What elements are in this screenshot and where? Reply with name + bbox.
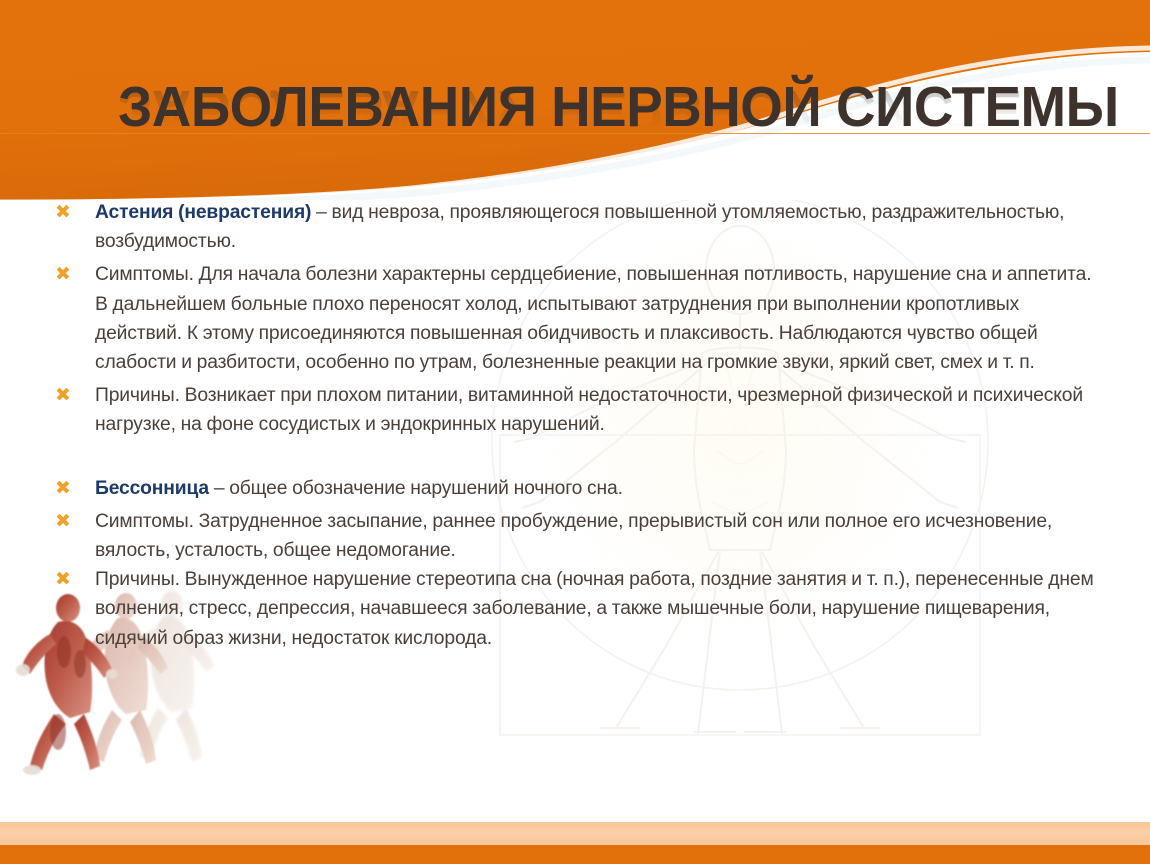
slide-header-banner <box>0 0 1150 200</box>
list-item: ✖ Причины. Вынужденное нарушение стереот… <box>0 565 1150 653</box>
list-item: ✖ Симптомы. Для начала болезни характерн… <box>0 260 1150 377</box>
list-item: ✖ Бессонница – общее обозначение нарушен… <box>0 474 1150 503</box>
list-item: ✖ Симптомы. Затрудненное засыпание, ранн… <box>0 507 1150 565</box>
title-divider-rule <box>0 133 1150 134</box>
list-item-text: Бессонница – общее обозначение нарушений… <box>95 474 1095 503</box>
presentation-slide: ЗАБОЛЕВАНИЯ НЕРВНОЙ СИСТЕМЫ ЗАБОЛЕВАНИЯ … <box>0 0 1150 864</box>
section-spacer <box>0 440 1150 474</box>
term-description: – общее обозначение нарушений ночного сн… <box>209 478 623 499</box>
cross-bullet-icon: ✖ <box>52 201 74 223</box>
list-item-text: Астения (неврастения) – вид невроза, про… <box>95 198 1095 256</box>
cross-bullet-icon: ✖ <box>52 568 74 590</box>
cross-bullet-icon: ✖ <box>52 384 74 406</box>
footer-orange-band <box>0 845 1150 864</box>
cross-bullet-icon: ✖ <box>52 263 74 285</box>
term-label: Бессонница <box>95 478 209 499</box>
footer-accent-band <box>0 822 1150 845</box>
list-item-text: Причины. Вынужденное нарушение стереотип… <box>95 565 1095 653</box>
list-item: ✖ Причины. Возникает при плохом питании,… <box>0 381 1150 439</box>
cross-bullet-icon: ✖ <box>52 477 74 499</box>
list-item-text: Симптомы. Для начала болезни характерны … <box>95 260 1095 377</box>
list-item: ✖ Астения (неврастения) – вид невроза, п… <box>0 198 1150 256</box>
slide-body-content: ✖ Астения (неврастения) – вид невроза, п… <box>0 198 1150 653</box>
term-label: Астения (неврастения) <box>95 202 311 223</box>
list-item-text: Причины. Возникает при плохом питании, в… <box>95 381 1095 439</box>
list-item-text: Симптомы. Затрудненное засыпание, раннее… <box>95 507 1095 565</box>
cross-bullet-icon: ✖ <box>52 510 74 532</box>
